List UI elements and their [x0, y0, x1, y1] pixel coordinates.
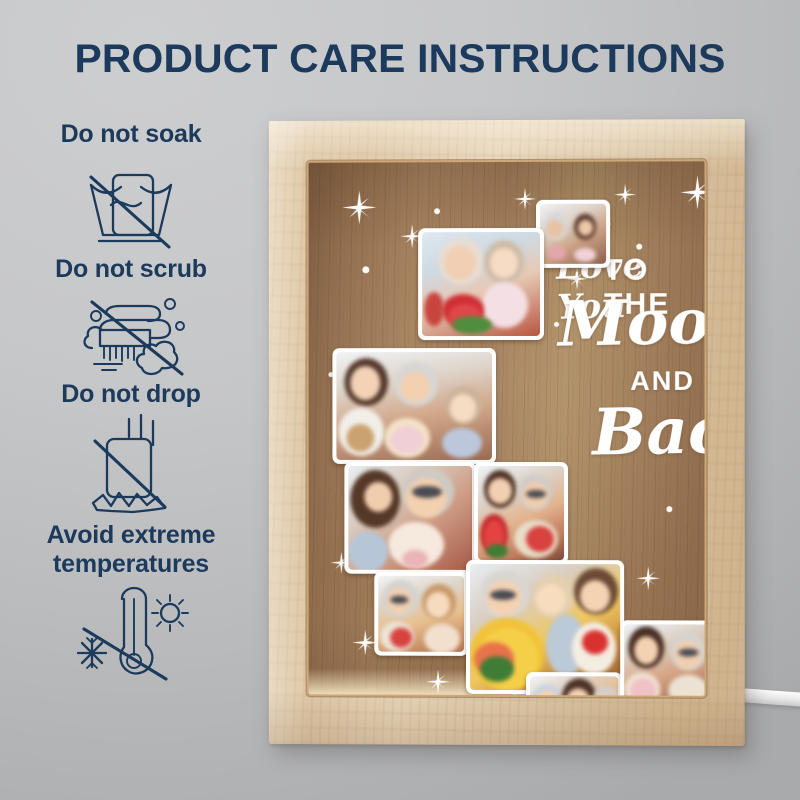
- care-label-line-1: Avoid extreme: [47, 521, 216, 549]
- collage-photo: [536, 200, 610, 268]
- collage-photo: [332, 348, 496, 464]
- frame-bevel-bottom: [269, 690, 745, 746]
- photo-image: [478, 466, 564, 560]
- photo-image: [378, 576, 464, 652]
- no-scrub-icon: [66, 284, 196, 380]
- product-care-instructions-image: PRODUCT CARE INSTRUCTIONS Do not soak Do: [0, 0, 800, 800]
- product-frame: We Love You TO THE Moon AND Back: [262, 112, 752, 752]
- care-label-line-2: temperatures: [53, 550, 209, 578]
- collage-photo: [526, 672, 622, 696]
- collage-photo: [620, 620, 704, 695]
- sparkle-dot: [434, 208, 440, 214]
- collage-photo: [418, 228, 544, 340]
- care-item-do-not-soak: Do not soak: [0, 120, 262, 255]
- photo-image: [530, 676, 618, 696]
- care-item-do-not-scrub: Do not scrub: [0, 255, 262, 380]
- photo-image: [348, 466, 472, 570]
- care-item-avoid-extreme-temperatures: Avoid extreme temperatures: [0, 521, 262, 681]
- care-label-do-not-scrub: Do not scrub: [0, 255, 262, 284]
- photo-image: [336, 352, 492, 460]
- sparkle-dot: [362, 266, 369, 273]
- no-soak-icon: [71, 151, 191, 255]
- care-label-avoid-extreme-temperatures: Avoid extreme temperatures: [0, 521, 262, 579]
- collage-photo: [344, 462, 476, 574]
- wooden-frame-border: We Love You TO THE Moon AND Back: [269, 119, 745, 746]
- care-label-do-not-soak: Do not soak: [0, 120, 262, 149]
- snowflake-icon: [78, 638, 106, 668]
- frame-bevel-left: [269, 121, 311, 744]
- sparkle-dot: [666, 506, 672, 512]
- care-instructions-list: Do not soak Do not scrub: [0, 120, 262, 681]
- care-item-do-not-drop: Do not drop: [0, 380, 262, 521]
- sparkle-dot: [636, 244, 642, 250]
- care-label-do-not-drop: Do not drop: [0, 380, 262, 409]
- photo-image: [624, 624, 704, 695]
- page-title: PRODUCT CARE INSTRUCTIONS: [0, 37, 800, 82]
- frame-inner-lip: We Love You TO THE Moon AND Back: [309, 161, 705, 695]
- photo-image: [540, 204, 606, 264]
- photo-image: [422, 232, 540, 336]
- sparkle-dot: [554, 322, 559, 327]
- no-extreme-temp-icon: [66, 581, 196, 681]
- no-drop-icon: [71, 411, 191, 521]
- collage-photo: [374, 572, 468, 656]
- collage-photo: [474, 462, 568, 564]
